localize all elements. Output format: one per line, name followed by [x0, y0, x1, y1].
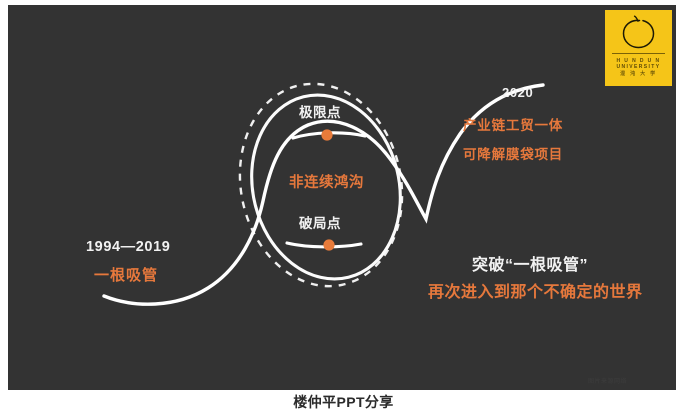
breaking-point-dot — [323, 239, 334, 250]
second-curve-diagram — [8, 5, 676, 390]
label-degradable-film: 可降解膜袋项目 — [463, 147, 563, 163]
label-discontinuity-gap: 非连续鸿沟 — [289, 175, 364, 192]
label-breakthrough: 突破“一根吸管” — [472, 257, 588, 275]
label-limit-point: 极限点 — [299, 105, 341, 121]
label-breaking-point: 破局点 — [299, 216, 341, 232]
limit-point-dot — [321, 129, 332, 140]
label-years: 1994—2019 — [86, 239, 170, 256]
peach-outline-icon — [605, 10, 672, 53]
label-year-2020: 2020 — [502, 86, 533, 101]
label-straw: 一根吸管 — [94, 267, 158, 284]
hundun-university-logo: H U N D U N UNIVERSITY 混 沌 大 学 — [605, 10, 672, 86]
logo-divider — [612, 53, 665, 54]
slide-caption: 楼仲平PPT分享 — [0, 392, 687, 412]
presentation-slide: 1994—2019 一根吸管 极限点 非连续鸿沟 破局点 2020 产业链工贸一… — [8, 5, 676, 390]
label-reenter-world: 再次进入到那个不确定的世界 — [428, 284, 643, 302]
label-industry-chain: 产业链工贸一体 — [463, 118, 563, 134]
watermark-text: 图片来源网络 — [588, 376, 627, 385]
logo-chinese-name: 混 沌 大 学 — [620, 71, 657, 77]
